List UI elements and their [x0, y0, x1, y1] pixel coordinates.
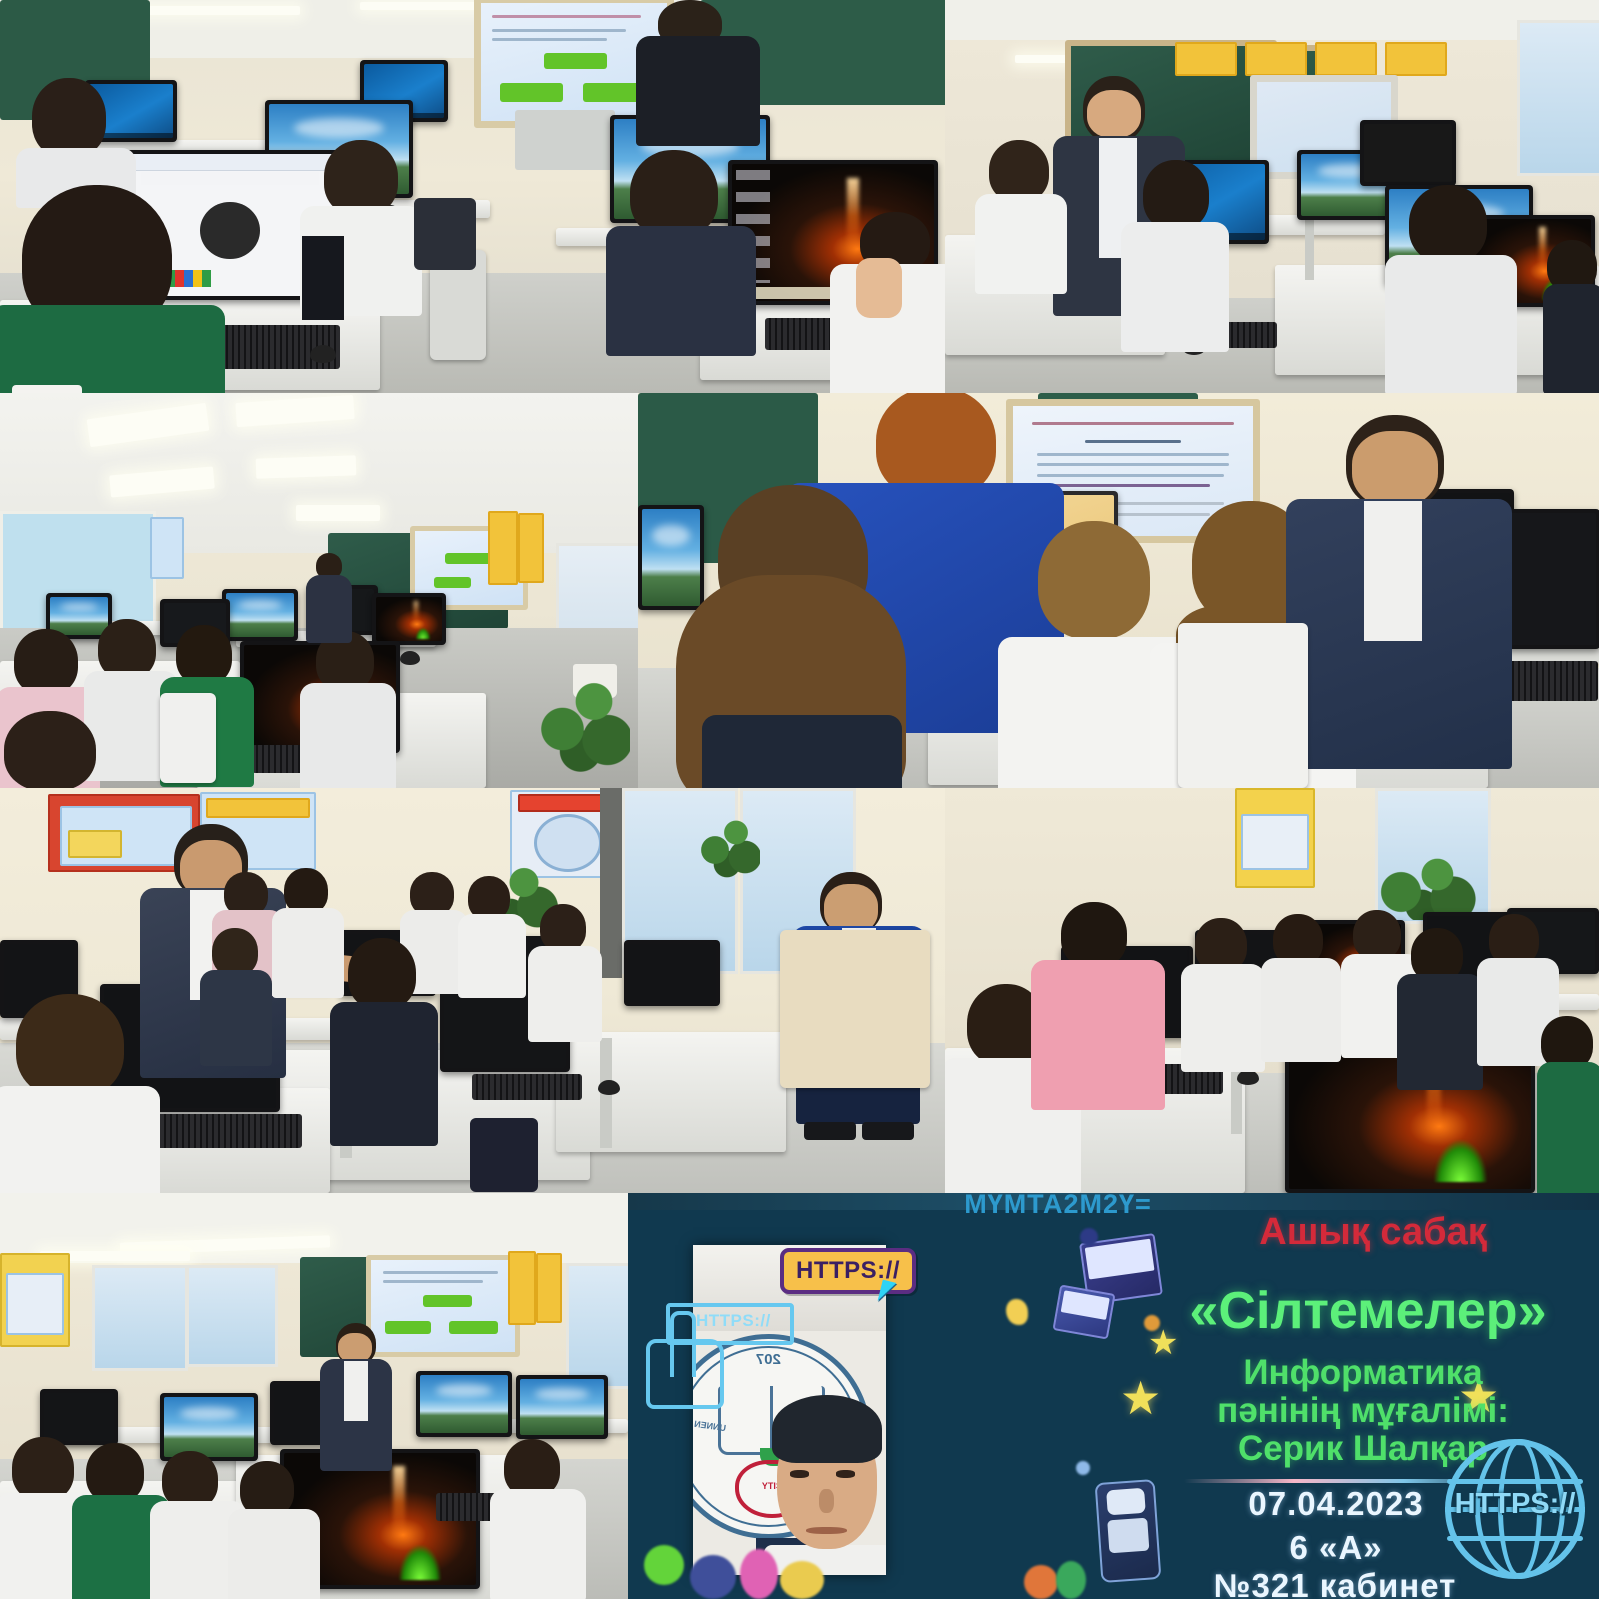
- student: [330, 938, 434, 1138]
- monitor: [516, 1375, 608, 1439]
- globe-icon-label: HTTPS://: [1439, 1488, 1591, 1521]
- student: [200, 928, 270, 1058]
- student: [228, 1461, 316, 1599]
- photo-panel-classroom-wide-left: [0, 0, 945, 393]
- photo-panel-classroom-overview: [0, 393, 638, 788]
- lesson-topic: «Сілтемелер»: [1138, 1281, 1598, 1341]
- photo-panel-students-working-right: [945, 788, 1599, 1193]
- decorative-figure: [780, 1561, 824, 1599]
- teacher: [320, 1323, 390, 1473]
- chair: [780, 930, 930, 1088]
- globe-icon: HTTPS://: [1439, 1433, 1591, 1585]
- student: [1537, 1016, 1599, 1193]
- laptop-icon: [1052, 1284, 1115, 1339]
- student: [1181, 918, 1263, 1068]
- teacher-face: [764, 1395, 886, 1575]
- student: [490, 1439, 582, 1599]
- photo-collage: МҮМТА2М2Ү= 207 UNNEN ПЭТЕП CITY: [0, 0, 1599, 1599]
- decorative-figure: [1024, 1565, 1058, 1599]
- student: [458, 876, 524, 994]
- student: [1397, 928, 1481, 1088]
- observing-teacher: [1286, 415, 1506, 765]
- pointing-hand-icon: HTTPS://: [642, 1293, 738, 1411]
- decorative-dot: [1080, 1228, 1098, 1246]
- teacher-female: [1031, 902, 1161, 1117]
- monitor: [1360, 120, 1456, 186]
- photo-panel-classroom-back-view: [0, 1193, 628, 1599]
- decorative-dot: [1006, 1299, 1028, 1325]
- student: [1261, 914, 1339, 1060]
- monitor: [624, 940, 720, 1006]
- subject-line-1: Информатика: [1128, 1353, 1598, 1393]
- decorative-figure: [690, 1555, 736, 1599]
- student: [0, 994, 150, 1193]
- lesson-label: Ашық сабақ: [1148, 1211, 1598, 1254]
- hand-icon-label: HTTPS://: [696, 1311, 771, 1331]
- decorative-dot: [1076, 1461, 1090, 1475]
- monitor: [416, 1371, 512, 1437]
- subject-line-2: пәнінің мұғалімі:: [1128, 1391, 1598, 1431]
- https-badge: HTTPS://: [780, 1248, 916, 1294]
- decorative-figure: [740, 1549, 778, 1599]
- decorative-figure: [644, 1545, 684, 1585]
- lesson-title-card: МҮМТА2М2Ү= 207 UNNEN ПЭТЕП CITY: [628, 1193, 1599, 1599]
- photo-panel-teacher-helping-students: [638, 393, 1599, 788]
- student: [656, 485, 906, 788]
- teacher: [306, 553, 350, 639]
- student: [528, 904, 600, 1036]
- chair: [1178, 623, 1308, 788]
- photo-panel-classroom-teacher-board: [945, 0, 1599, 393]
- decorative-figure: [1056, 1561, 1086, 1599]
- photo-panel-lesson-observers-left: [0, 788, 945, 1193]
